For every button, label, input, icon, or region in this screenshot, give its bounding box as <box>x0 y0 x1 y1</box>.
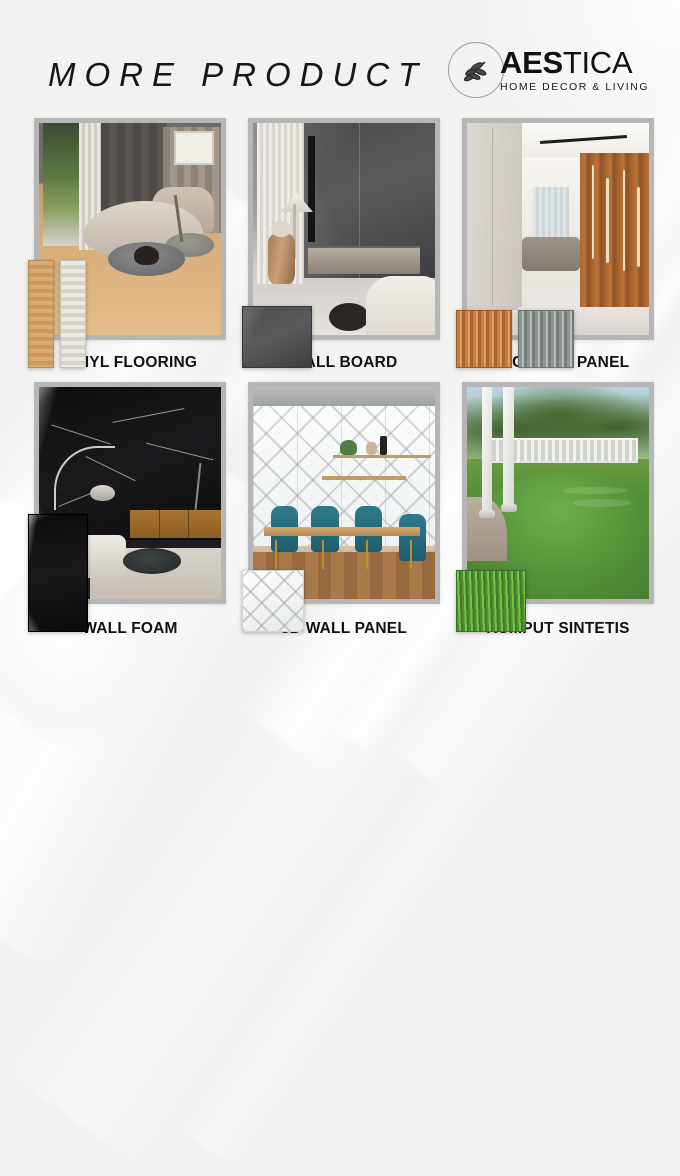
brand-name-bold: AES <box>500 45 563 80</box>
card-frame <box>462 118 654 340</box>
swatch-whitewash-plank <box>60 260 86 368</box>
page-title: MORE PRODUCT <box>48 56 427 94</box>
product-card-wpc-wall-panel[interactable]: WPC WALL PANEL <box>462 118 654 372</box>
product-card-rumput-sintetis[interactable]: RUMPUT SINTETIS <box>462 382 654 638</box>
card-frame <box>248 118 440 340</box>
product-photo-wpc-wall-panel <box>467 123 649 335</box>
brand-tagline: HOME DECOR & LIVING <box>500 81 649 93</box>
leaf-branch-icon <box>448 42 504 98</box>
product-grid: VINYL FLOORING WALL BOARD <box>34 118 654 638</box>
product-photo-rumput-sintetis <box>467 387 649 599</box>
brand-text: AESTICA HOME DECOR & LIVING <box>500 47 649 93</box>
card-frame <box>34 118 226 340</box>
swatch-group <box>456 570 526 632</box>
swatch-group <box>242 570 304 632</box>
swatch-group <box>456 310 574 368</box>
product-card-vinyl-flooring[interactable]: VINYL FLOORING <box>34 118 226 372</box>
swatch-oak-plank <box>28 260 54 368</box>
product-photo-wall-board <box>253 123 435 335</box>
product-photo-3d-wall-panel <box>253 387 435 599</box>
product-card-3d-wall-panel[interactable]: 3D WALL PANEL <box>248 382 440 638</box>
brand-wordmark: AESTICA <box>500 47 649 78</box>
swatch-black-marble-panel <box>28 514 88 632</box>
swatch-white-3d-tile <box>242 570 304 632</box>
brand-name-light: TICA <box>563 45 632 80</box>
swatch-grey-marble-tile <box>242 306 312 368</box>
card-frame <box>248 382 440 604</box>
header: MORE PRODUCT AESTICA HOME DECOR & LIVING <box>0 40 680 110</box>
product-card-wall-board[interactable]: WALL BOARD <box>248 118 440 372</box>
swatch-terracotta-flute <box>456 310 512 368</box>
brand-logo: AESTICA HOME DECOR & LIVING <box>448 42 649 98</box>
card-frame <box>34 382 226 604</box>
swatch-grass-turf-tile <box>456 570 526 632</box>
swatch-group <box>28 514 88 632</box>
card-frame <box>462 382 654 604</box>
swatch-group <box>242 306 312 368</box>
swatch-group <box>28 260 86 368</box>
product-card-wall-foam[interactable]: WALL FOAM <box>34 382 226 638</box>
swatch-grey-flute <box>518 310 574 368</box>
